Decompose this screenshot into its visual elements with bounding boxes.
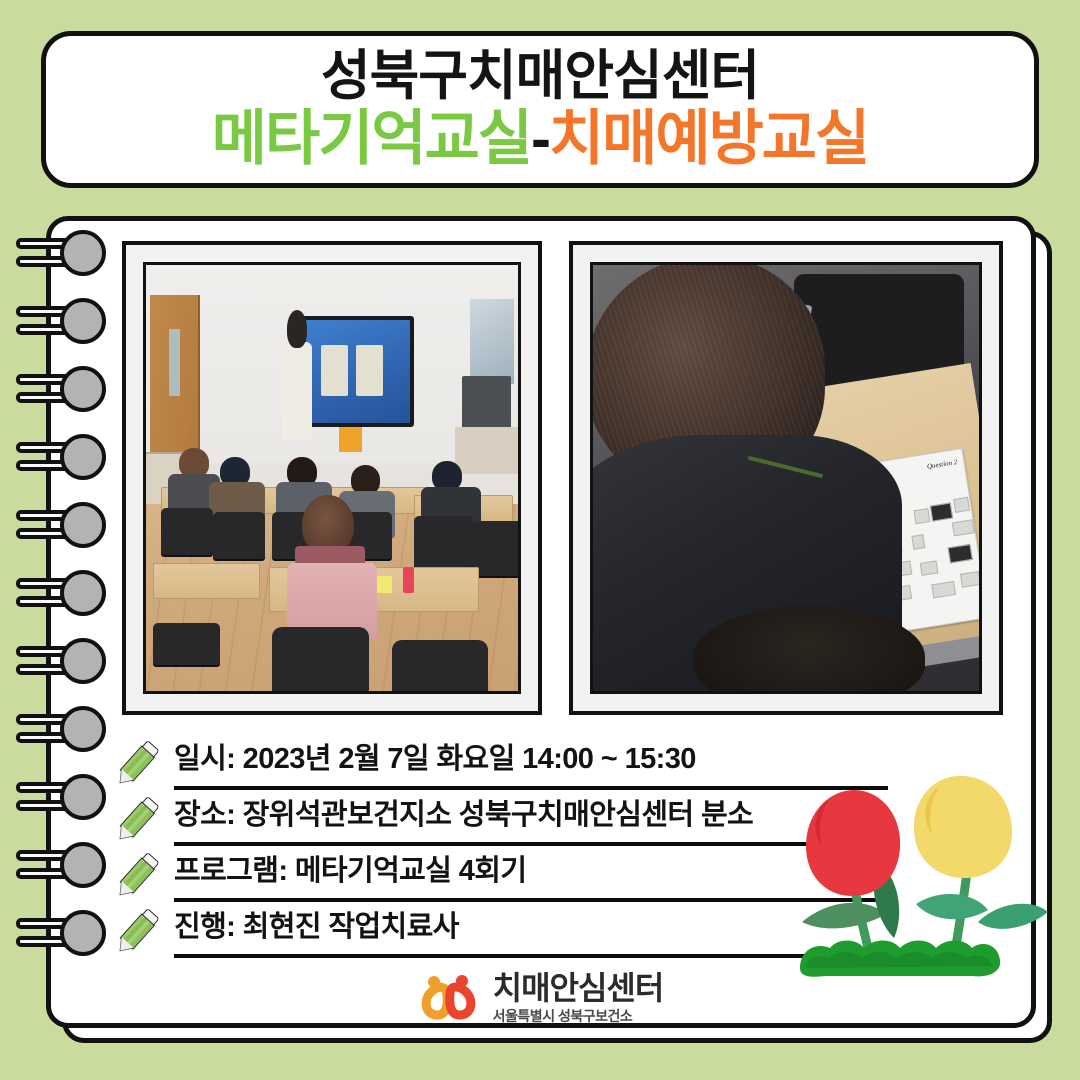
poster-root: 성북구치매안심센터 메타기억교실-치매예방교실 (0, 0, 1080, 1080)
poster-title-line2: 메타기억교실-치매예방교실 (212, 108, 868, 169)
tulip-illustration (782, 772, 1054, 984)
logo-main-text: 치매안심센터 (493, 972, 664, 1004)
projection-screen (302, 316, 414, 427)
spiral-ring (14, 706, 106, 752)
workbook-photo-image: Question 1 Question 2 (590, 262, 982, 694)
spiral-ring (14, 298, 106, 344)
spiral-ring (14, 230, 106, 276)
title-program-subject: 치매예방교실 (549, 105, 868, 172)
two-figures-infinity-logo (417, 974, 481, 1020)
classroom-photo-image (143, 262, 521, 694)
info-row-text: 장소: 장위석관보건지소 성북구치매안심센터 분소 (174, 790, 753, 840)
spiral-ring (14, 366, 106, 412)
info-row: 일시: 2023년 2월 7일 화요일 14:00 ~ 15:30 (128, 734, 888, 790)
workbook-activity-photo: Question 1 Question 2 (569, 241, 1003, 715)
info-row: 프로그램: 메타기억교실 4회기 (128, 846, 888, 902)
spiral-ring (14, 638, 106, 684)
logo-sub-text: 서울특별시 성북구보건소 (493, 1009, 664, 1023)
info-row-text: 진행: 최현진 작업치료사 (174, 902, 459, 952)
info-row-text: 일시: 2023년 2월 7일 화요일 14:00 ~ 15:30 (174, 734, 696, 784)
classroom-lecture-photo (122, 241, 542, 715)
info-row-text: 프로그램: 메타기억교실 4회기 (174, 846, 526, 896)
info-row-divider (174, 954, 888, 958)
info-row: 진행: 최현진 작업치료사 (128, 902, 888, 958)
title-card: 성북구치매안심센터 메타기억교실-치매예방교실 (41, 31, 1039, 188)
info-row: 장소: 장위석관보건지소 성북구치매안심센터 분소 (128, 790, 888, 846)
instructor-figure (282, 342, 312, 440)
poster-title-line1: 성북구치매안심센터 (321, 49, 759, 104)
spiral-ring (14, 842, 106, 888)
spiral-ring (14, 910, 106, 956)
program-info-list: 일시: 2023년 2월 7일 화요일 14:00 ~ 15:30장소: 장위석… (128, 734, 888, 958)
title-program-name: 메타기억교실 (212, 105, 531, 172)
title-separator: - (531, 105, 549, 172)
spiral-ring (14, 774, 106, 820)
spiral-binding (0, 216, 120, 1028)
center-logo: 치매안심센터 서울특별시 성북구보건소 (0, 962, 1080, 1032)
spiral-ring (14, 570, 106, 616)
spiral-ring (14, 502, 106, 548)
spiral-ring (14, 434, 106, 480)
